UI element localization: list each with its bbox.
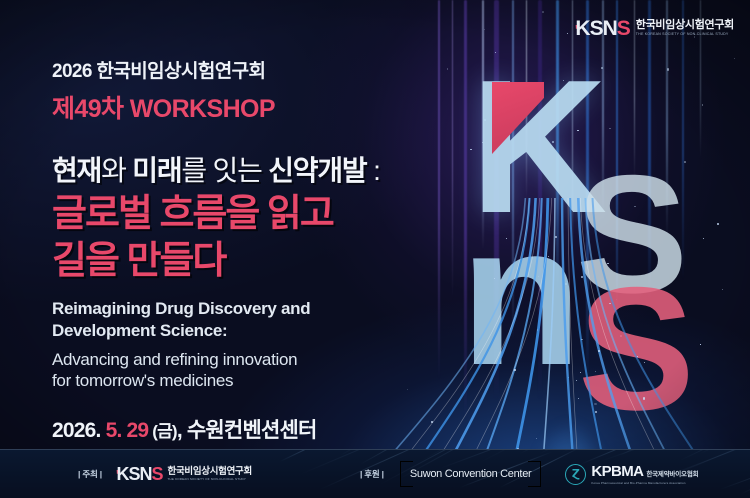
kpbma-logo: Ɀ KPBMA 한국제약바이오협회 Korea Pharmaceutical a…: [565, 464, 698, 485]
subtitle-bold: Reimagining Drug Discovery and Developme…: [52, 298, 452, 342]
beam-sparkle: [537, 329, 538, 330]
subtitle-bold-line-2: Development Science:: [52, 320, 452, 342]
subtitle-bold-line-1: Reimagining Drug Discovery and: [52, 298, 452, 320]
beam-sparkle: [594, 403, 596, 405]
kpbma-text-block: KPBMA 한국제약바이오협회 Korea Pharmaceutical and…: [591, 464, 698, 485]
frame-corner-bottom-right: [528, 474, 541, 487]
conference-poster: K S n S 'KSNS 한국비임상시험연구회 THE KOREAN SOCI…: [0, 0, 750, 498]
suwon-convention-center-logo: Suwon Convention Center: [400, 461, 542, 487]
ksns-sn: SN: [590, 18, 617, 39]
sponsor-tag: | 후원 |: [360, 468, 384, 480]
beam-sparkle: [494, 278, 495, 279]
headline-bold-1: 현재: [52, 155, 101, 186]
headline-light-2: 를 잇는: [181, 155, 268, 186]
footer-ksns-logo: 'KSNS 한국비임상시험연구회 THE KOREAN SOCIETY OF N…: [116, 465, 252, 483]
footer-ksns-k: K: [117, 465, 129, 483]
venue-name: , 수원컨벤션센터: [177, 419, 317, 442]
headline-colon: :: [366, 155, 379, 186]
headline-bold-3: 신약개발: [268, 155, 366, 186]
beam-sparkle: [595, 411, 597, 413]
host-tag: | 주최 |: [78, 468, 102, 480]
frame-corner-bottom-left: [400, 474, 413, 487]
frame-corner-top-left: [400, 461, 413, 474]
ksns-k: K: [575, 18, 589, 39]
suwon-convention-center-name: Suwon Convention Center: [410, 468, 532, 480]
subtitle-regular-line-1: Advancing and refining innovation: [52, 349, 452, 371]
subtitle-regular-line-2: for tomorrow's medicines: [52, 370, 452, 392]
footer-inner: | 주최 | 'KSNS 한국비임상시험연구회 THE KOREAN SOCIE…: [0, 450, 750, 498]
workshop-title: 제49차 WORKSHOP: [52, 89, 452, 125]
footer-ksns-s: S: [152, 465, 163, 483]
kpbma-symbol-icon: Ɀ: [565, 464, 586, 485]
kpbma-korean-name: 한국제약바이오협회: [646, 468, 698, 478]
kpbma-name-row: KPBMA 한국제약바이오협회: [591, 464, 698, 479]
beam-sparkle: [581, 339, 582, 340]
date-weekday: (금): [148, 422, 177, 441]
date-year: 2026.: [52, 419, 106, 442]
frame-corner-top-right: [528, 461, 541, 474]
ksns-s: S: [617, 18, 630, 39]
ksns-english-name: THE KOREAN SOCIETY OF NON-CLINICAL STUDY: [636, 33, 734, 37]
beam-sparkle: [506, 238, 507, 239]
headline-line-1: 현재와 미래를 잇는 신약개발 :: [52, 149, 452, 189]
subtitle-regular: Advancing and refining innovation for to…: [52, 349, 452, 393]
beam-sparkle: [536, 438, 537, 439]
poster-content: 2026 한국비임상시험연구회 제49차 WORKSHOP 현재와 미래를 잇는…: [52, 0, 452, 444]
footer-ksns-english-name: THE KOREAN SOCIETY OF NON-CLINICAL STUDY: [168, 478, 252, 481]
beam-sparkle: [514, 369, 516, 371]
top-right-ksns-logo: 'KSNS 한국비임상시험연구회 THE KOREAN SOCIETY OF N…: [575, 18, 734, 39]
date-venue-line: 2026. 5. 29 (금), 수원컨벤션센터: [52, 414, 452, 444]
date-day: 5. 29: [106, 419, 149, 442]
kpbma-english-name: Korea Pharmaceutical and Bio-Pharma Manu…: [591, 481, 698, 485]
headline-line-2: 글로벌 흐름을 읽고: [52, 193, 452, 236]
ksns-name-block: 한국비임상시험연구회 THE KOREAN SOCIETY OF NON-CLI…: [636, 20, 734, 37]
headline-bold-2: 미래: [132, 155, 181, 186]
footer-ksns-sn: SN: [129, 465, 152, 483]
beam-sparkle: [643, 397, 646, 400]
beam-sparkle: [555, 236, 557, 238]
footer-ksns-wordmark: 'KSNS: [116, 465, 163, 483]
kpbma-wordmark: KPBMA: [591, 464, 643, 479]
footer-ksns-name-block: 한국비임상시험연구회 THE KOREAN SOCIETY OF NON-CLI…: [168, 467, 252, 482]
footer-ksns-korean-name: 한국비임상시험연구회: [168, 467, 252, 477]
ksns-korean-name: 한국비임상시험연구회: [636, 20, 734, 31]
poster-footer: | 주최 | 'KSNS 한국비임상시험연구회 THE KOREAN SOCIE…: [0, 449, 750, 498]
headline-light-1: 와: [101, 155, 132, 186]
headline-line-3: 길을 만들다: [52, 240, 452, 283]
ksns-wordmark: 'KSNS: [575, 18, 630, 39]
eyebrow-text: 2026 한국비임상시험연구회: [52, 56, 452, 83]
